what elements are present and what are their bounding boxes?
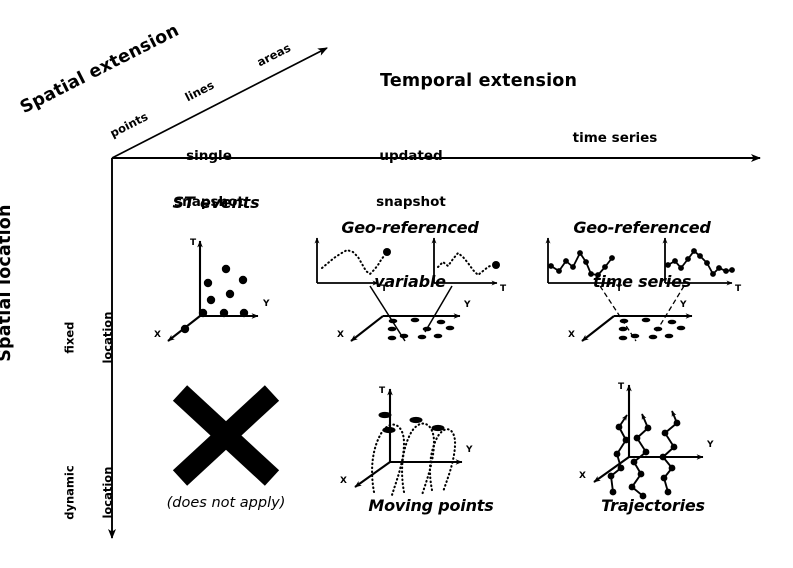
geo-ts-title-line2: time series [552,273,732,291]
row-label-fixed-location: fixed location [38,298,139,378]
geo-ts-t-axis-label-right: T [735,284,741,294]
spatial-location-axis-title: Spatial location [0,204,16,361]
moving-points-t-axis-label: T [379,386,385,396]
st-events-y-axis-label: Y [263,299,270,309]
geo-var-title-line2: variable [320,273,500,291]
geo-var-y-axis-label: Y [464,300,471,310]
row-dynamic-line1: dynamic [64,453,77,533]
cell-title-trajectories: Trajectories [563,497,743,515]
st-events-glyph [168,241,258,341]
row-fixed-line2: location [102,298,115,378]
tick-single-line1: single [150,149,268,164]
cell-title-geo-referenced-time-series: Geo-referenced time series [552,183,732,326]
moving-points-x-axis-label: X [340,476,347,486]
geo-ts-title-line1: Geo-referenced [552,219,732,237]
geo-ts-x-axis-label: X [568,330,575,340]
geo-ts-t-axis-label-left: T [616,284,622,294]
does-not-apply-x-icon [180,393,272,478]
cell-title-st-events: ST events [146,194,286,212]
row-label-dynamic-location: dynamic location [38,453,139,533]
geo-var-title-line1: Geo-referenced [320,219,500,237]
moving-points-y-axis-label: Y [466,445,473,455]
cell-title-geo-referenced-variable: Geo-referenced variable [320,183,500,326]
cell-title-moving-points: Moving points [341,497,521,515]
st-events-x-axis-label: X [154,330,161,340]
temporal-extension-tick-time-series: time series [530,131,700,146]
geo-var-t-axis-label-right: T [500,284,506,294]
geo-ts-y-axis-label: Y [680,300,687,310]
row-fixed-line1: fixed [64,298,77,378]
diagram-root: Spatial extension points lines areas Tem… [0,0,793,568]
trajectories-glyph [594,385,703,499]
trajectories-t-axis-label: T [618,382,624,392]
geo-var-x-axis-label: X [337,330,344,340]
trajectories-x-axis-label: X [579,471,586,481]
temporal-extension-axis-title: Temporal extension [380,72,577,92]
row-dynamic-line2: location [102,453,115,533]
trajectories-y-axis-label: Y [707,440,714,450]
temporal-extension-tick-single-snapshot: single snapshot [150,119,268,240]
moving-points-glyph [355,389,462,495]
geo-var-t-axis-label-left: T [381,284,387,294]
tick-updated-line1: updated [352,149,470,164]
st-events-t-axis-label: T [190,238,196,248]
cell-title-does-not-apply: (does not apply) [156,495,296,511]
